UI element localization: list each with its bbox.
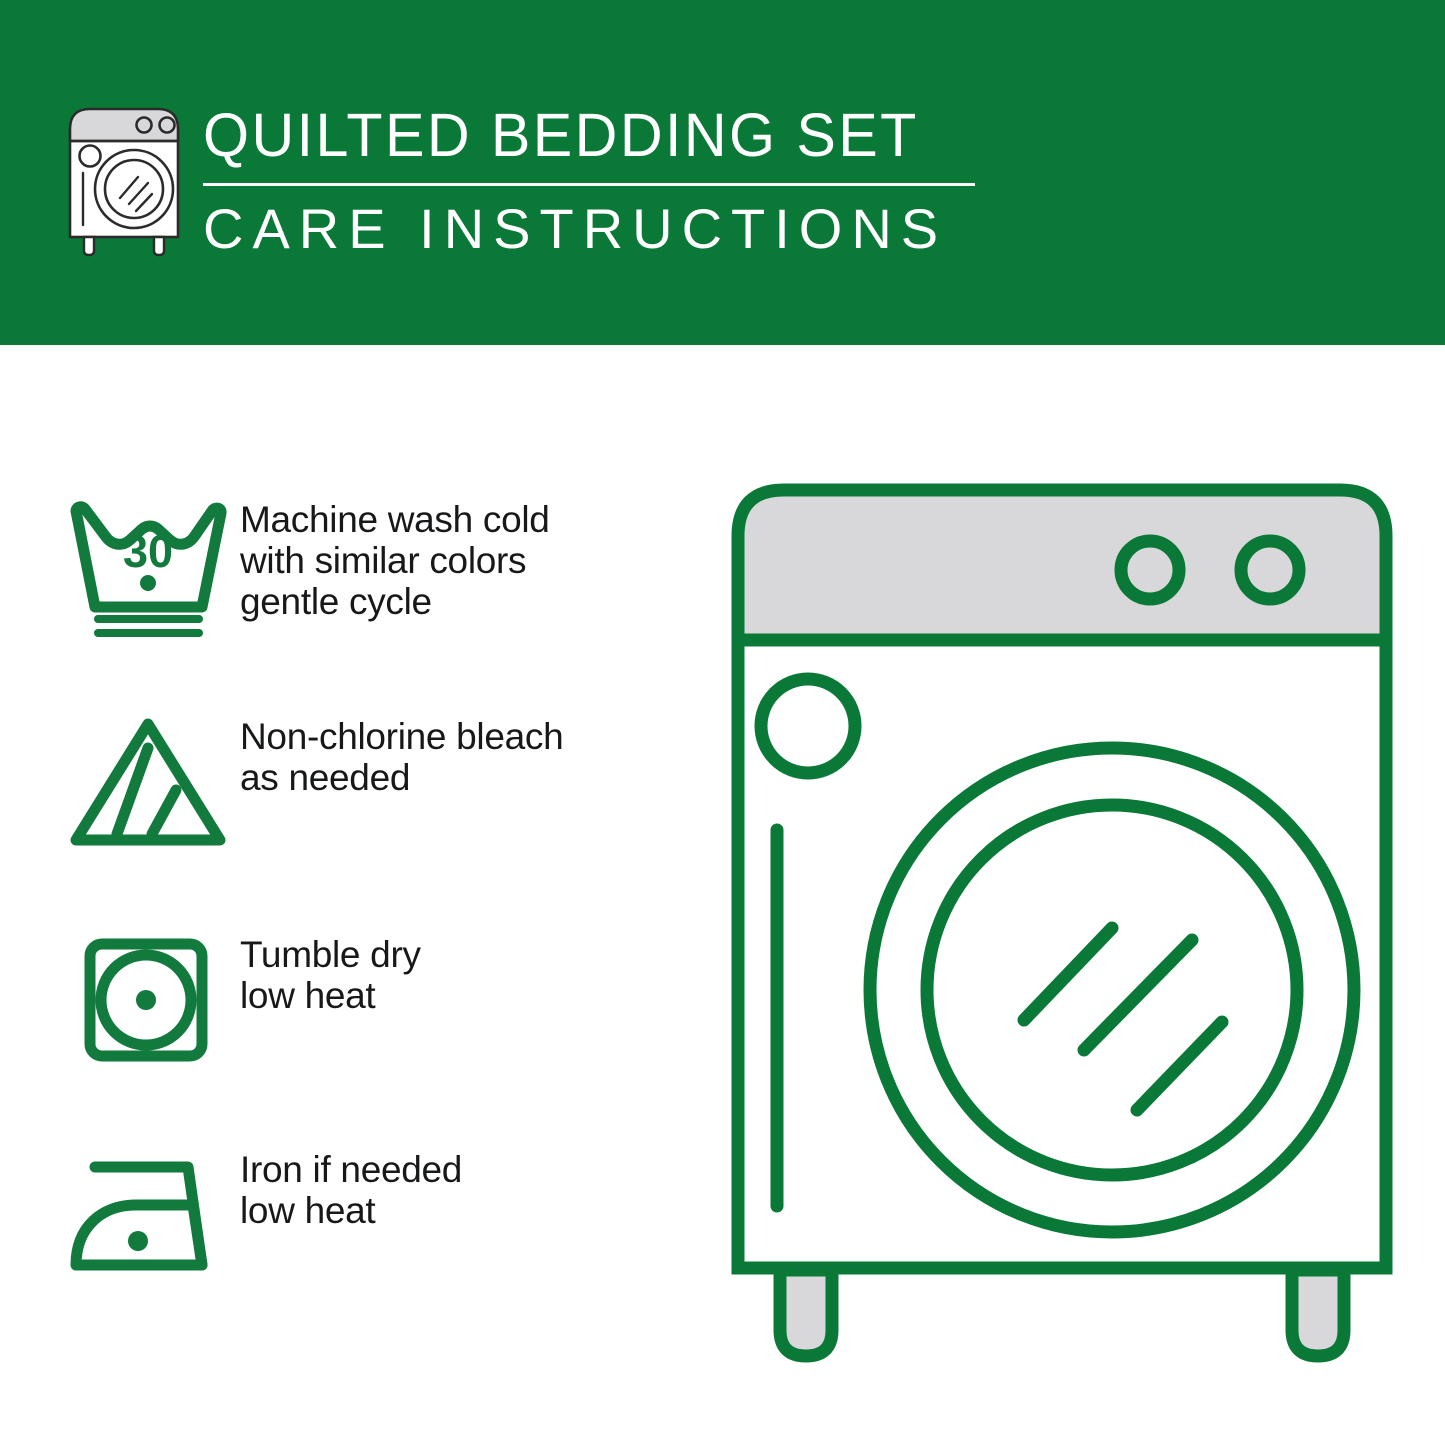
wash-tub-30-gentle-icon: 30 bbox=[62, 495, 240, 641]
iron-low-heat-icon bbox=[62, 1145, 240, 1285]
care-text-bleach: Non-chlorine bleach as needed bbox=[240, 712, 563, 798]
header-text-block: QUILTED BEDDING SET CARE INSTRUCTIONS bbox=[203, 98, 993, 262]
wash-temperature-label: 30 bbox=[123, 526, 173, 577]
header-band: QUILTED BEDDING SET CARE INSTRUCTIONS bbox=[0, 0, 1445, 345]
care-text-wash: Machine wash cold with similar colors ge… bbox=[240, 495, 550, 622]
care-row-bleach: Non-chlorine bleach as needed bbox=[62, 712, 563, 852]
care-instructions-infographic: QUILTED BEDDING SET CARE INSTRUCTIONS 30… bbox=[0, 0, 1445, 1445]
tumble-dry-low-heat-icon bbox=[62, 930, 240, 1070]
care-row-iron: Iron if needed low heat bbox=[62, 1145, 462, 1285]
title-divider bbox=[203, 183, 975, 186]
page-subtitle: CARE INSTRUCTIONS bbox=[203, 196, 993, 262]
care-row-wash: 30 Machine wash cold with similar colors… bbox=[62, 495, 550, 641]
care-text-iron: Iron if needed low heat bbox=[240, 1145, 462, 1231]
care-row-dry: Tumble dry low heat bbox=[62, 930, 421, 1070]
triangle-non-chlorine-bleach-icon bbox=[62, 712, 240, 852]
washing-machine-logo-icon bbox=[62, 103, 192, 258]
page-title: QUILTED BEDDING SET bbox=[203, 98, 969, 172]
leg-left bbox=[780, 1270, 832, 1356]
care-text-dry: Tumble dry low heat bbox=[240, 930, 421, 1016]
washing-machine-illustration bbox=[722, 478, 1402, 1368]
control-panel bbox=[738, 490, 1386, 640]
leg-right bbox=[1292, 1270, 1344, 1356]
